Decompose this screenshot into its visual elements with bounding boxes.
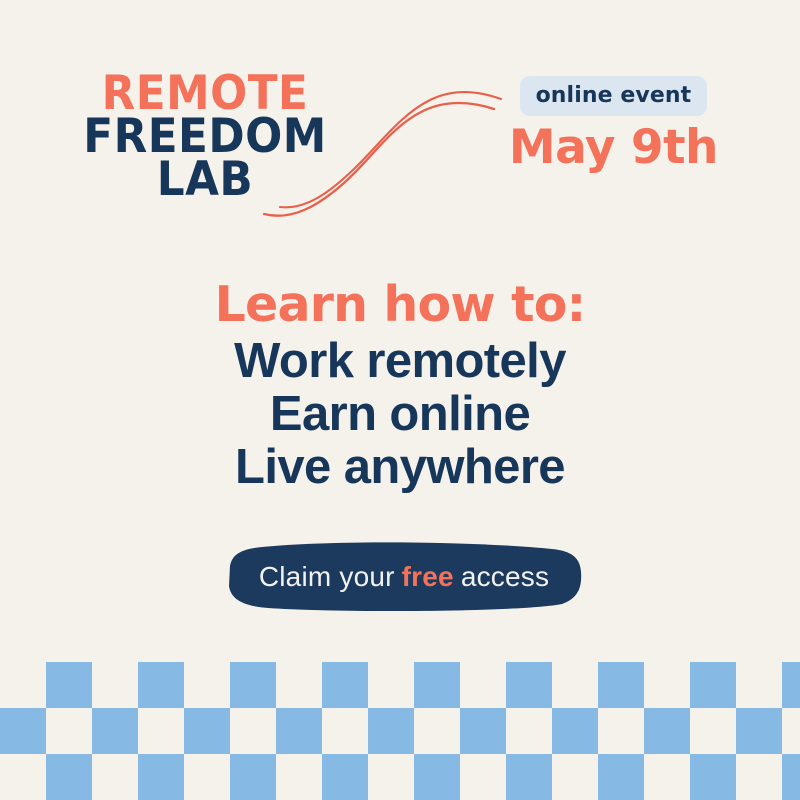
checkerboard-cell	[690, 754, 736, 800]
headline-block: Learn how to: Work remotely Earn online …	[0, 278, 800, 494]
headline-item-0: Work remotely	[0, 335, 800, 388]
checkerboard-cell	[46, 708, 92, 754]
checkerboard-cell	[92, 708, 138, 754]
checkerboard-cell	[644, 662, 690, 708]
poster-canvas: REMOTE FREEDOM LAB online event May 9th …	[0, 0, 800, 800]
checkerboard-cell	[92, 662, 138, 708]
checkerboard-pattern	[0, 662, 800, 800]
checkerboard-cell	[46, 662, 92, 708]
checkerboard-cell	[782, 708, 800, 754]
checkerboard-row	[0, 662, 800, 708]
checkerboard-cell	[506, 754, 552, 800]
checkerboard-cell	[552, 708, 598, 754]
cta-claim-free-access-button[interactable]: Claim your free access	[222, 542, 586, 612]
checkerboard-cell	[414, 662, 460, 708]
checkerboard-cell	[0, 708, 46, 754]
checkerboard-cell	[506, 708, 552, 754]
checkerboard-cell	[598, 708, 644, 754]
cta-text-highlight: free	[402, 561, 454, 593]
checkerboard-cell	[736, 662, 782, 708]
checkerboard-cell	[782, 754, 800, 800]
checkerboard-cell	[0, 662, 46, 708]
checkerboard-cell	[598, 662, 644, 708]
checkerboard-cell	[184, 754, 230, 800]
checkerboard-cell	[414, 754, 460, 800]
checkerboard-cell	[460, 662, 506, 708]
checkerboard-cell	[230, 754, 276, 800]
brand-logo: REMOTE FREEDOM LAB	[60, 72, 350, 202]
checkerboard-cell	[368, 754, 414, 800]
checkerboard-cell	[690, 708, 736, 754]
checkerboard-cell	[506, 662, 552, 708]
checkerboard-cell	[644, 708, 690, 754]
checkerboard-cell	[782, 662, 800, 708]
status-badge-online-event: online event	[520, 76, 708, 116]
event-date: May 9th	[509, 123, 718, 172]
checkerboard-cell	[322, 662, 368, 708]
checkerboard-cell	[138, 708, 184, 754]
checkerboard-cell	[552, 662, 598, 708]
checkerboard-row	[0, 754, 800, 800]
checkerboard-cell	[690, 662, 736, 708]
checkerboard-cell	[138, 754, 184, 800]
checkerboard-cell	[322, 708, 368, 754]
checkerboard-cell	[736, 754, 782, 800]
headline-lead: Learn how to:	[0, 278, 800, 333]
checkerboard-cell	[322, 754, 368, 800]
checkerboard-cell	[92, 754, 138, 800]
checkerboard-cell	[276, 662, 322, 708]
checkerboard-cell	[368, 662, 414, 708]
checkerboard-cell	[598, 754, 644, 800]
cta-text-after: access	[461, 561, 549, 593]
checkerboard-cell	[414, 708, 460, 754]
checkerboard-cell	[230, 708, 276, 754]
checkerboard-cell	[552, 754, 598, 800]
checkerboard-cell	[138, 662, 184, 708]
checkerboard-cell	[184, 662, 230, 708]
checkerboard-cell	[736, 708, 782, 754]
cta-text-before: Claim your	[259, 561, 395, 593]
checkerboard-cell	[46, 754, 92, 800]
checkerboard-cell	[276, 708, 322, 754]
checkerboard-row	[0, 708, 800, 754]
event-meta: online event May 9th	[509, 76, 718, 172]
checkerboard-cell	[184, 708, 230, 754]
checkerboard-cell	[460, 754, 506, 800]
checkerboard-cell	[368, 708, 414, 754]
checkerboard-cell	[0, 754, 46, 800]
logo-line-lab: LAB	[70, 158, 340, 201]
checkerboard-cell	[230, 662, 276, 708]
cta-label: Claim your free access	[222, 542, 586, 612]
headline-item-1: Earn online	[0, 388, 800, 441]
headline-item-2: Live anywhere	[0, 441, 800, 494]
checkerboard-cell	[460, 708, 506, 754]
checkerboard-cell	[276, 754, 322, 800]
checkerboard-cell	[644, 754, 690, 800]
